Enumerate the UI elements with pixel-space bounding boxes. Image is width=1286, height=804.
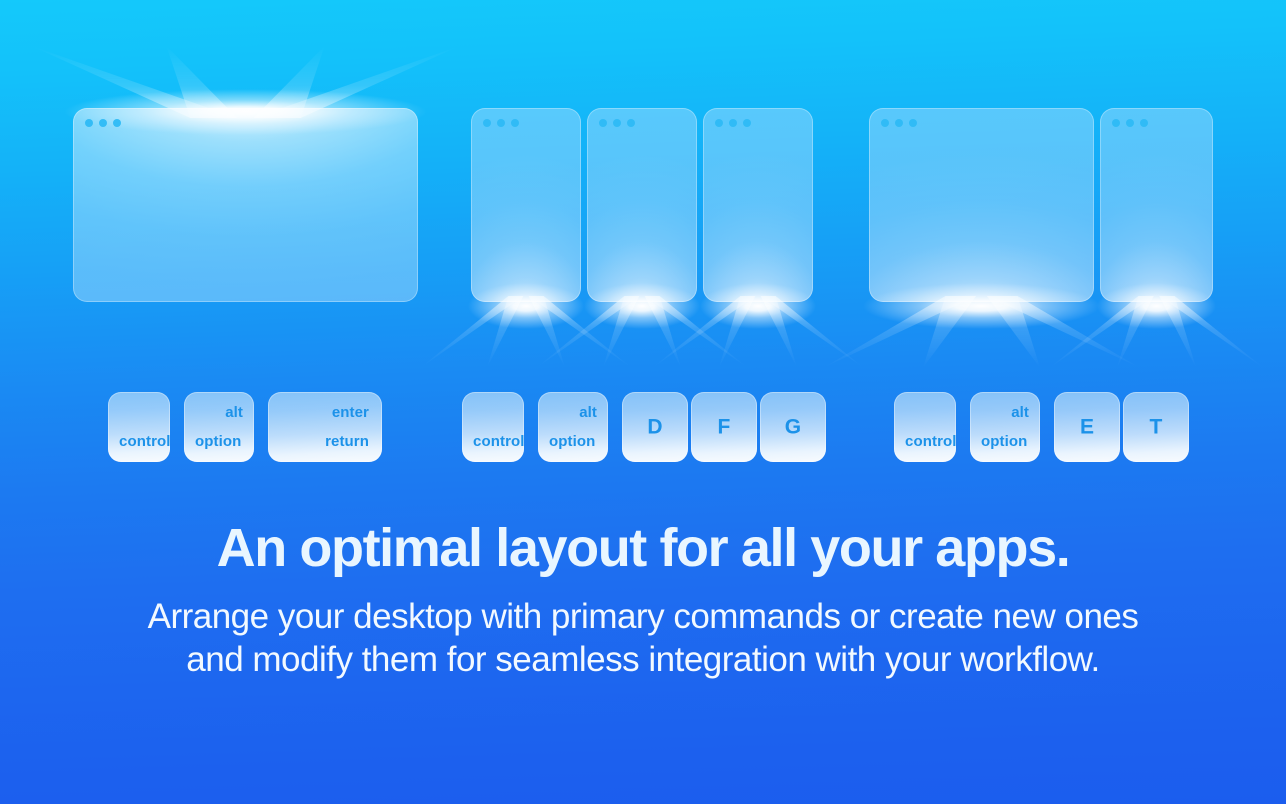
key-label-primary: D <box>622 417 688 438</box>
promo-hero: controlaltoptionenterreturncontrolaltopt… <box>0 0 1286 804</box>
single-window-layout-key-option[interactable]: altoption <box>184 392 254 462</box>
window-wide[interactable] <box>869 108 1094 302</box>
key-label-primary: F <box>691 417 757 438</box>
key-label-primary: alt <box>1011 405 1029 420</box>
circle-dot-icon[interactable] <box>1126 119 1134 127</box>
two-column-layout-key-e[interactable]: E <box>1054 392 1120 462</box>
window-controls <box>881 119 917 127</box>
subtitle-line-1: Arrange your desktop with primary comman… <box>0 595 1286 639</box>
three-column-layout-key-control[interactable]: control <box>462 392 524 462</box>
two-column-layout-key-t[interactable]: T <box>1123 392 1189 462</box>
hero-copy: An optimal layout for all your apps. Arr… <box>0 520 1286 682</box>
light-ray <box>1040 296 1273 368</box>
two-column-layout <box>0 0 1286 370</box>
key-label-secondary: option <box>981 434 1027 449</box>
key-label-secondary: option <box>549 434 595 449</box>
three-column-layout-key-d[interactable]: D <box>622 392 688 462</box>
key-label-primary: alt <box>579 405 597 420</box>
subtitle-line-2: and modify them for seamless integration… <box>0 638 1286 682</box>
circle-dot-icon[interactable] <box>1140 119 1148 127</box>
key-label-secondary: option <box>195 434 241 449</box>
circle-dot-icon[interactable] <box>895 119 903 127</box>
page-subtitle: Arrange your desktop with primary comman… <box>0 595 1286 683</box>
key-label-primary: control <box>119 434 171 449</box>
window-controls <box>1112 119 1148 127</box>
key-label-secondary: return <box>325 434 369 449</box>
key-label-primary: control <box>905 434 957 449</box>
circle-dot-icon[interactable] <box>1112 119 1120 127</box>
three-column-layout-key-f[interactable]: F <box>691 392 757 462</box>
window-narrow[interactable] <box>1100 108 1213 302</box>
key-label-primary: control <box>473 434 525 449</box>
circle-dot-icon[interactable] <box>881 119 889 127</box>
three-column-layout-key-option[interactable]: altoption <box>538 392 608 462</box>
window-layout-previews <box>0 0 1286 370</box>
single-window-layout-key-return[interactable]: enterreturn <box>268 392 382 462</box>
page-title: An optimal layout for all your apps. <box>0 520 1286 577</box>
circle-dot-icon[interactable] <box>909 119 917 127</box>
three-column-layout-key-g[interactable]: G <box>760 392 826 462</box>
key-label-primary: T <box>1123 417 1189 438</box>
key-label-primary: E <box>1054 417 1120 438</box>
key-label-primary: G <box>760 417 826 438</box>
two-column-layout-key-option[interactable]: altoption <box>970 392 1040 462</box>
two-column-layout-key-control[interactable]: control <box>894 392 956 462</box>
key-label-primary: alt <box>225 405 243 420</box>
light-ray <box>809 296 1154 368</box>
key-label-primary: enter <box>332 405 369 420</box>
single-window-layout-key-control[interactable]: control <box>108 392 170 462</box>
